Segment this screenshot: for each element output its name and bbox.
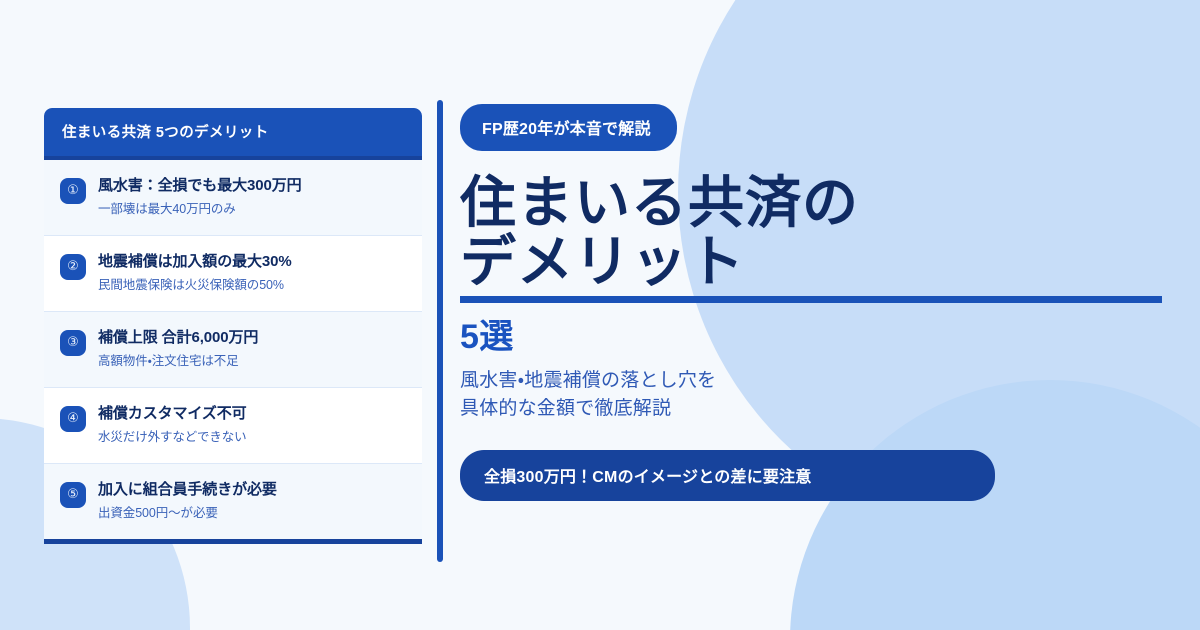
lede-line-2: 具体的な金額で徹底解説: [460, 395, 1180, 424]
list-item: ② 地震補償は加入額の最大30% 民間地震保険は火災保険額の50%: [44, 236, 422, 312]
list-item-texts: 加入に組合員手続きが必要 出資金500円〜が必要: [98, 481, 406, 521]
item-number-badge: ④: [60, 406, 86, 432]
list-item: ④ 補償カスタマイズ不可 水災だけ外すなどできない: [44, 388, 422, 464]
list-item-subtitle: 水災だけ外すなどできない: [98, 429, 406, 445]
list-item-subtitle: 高額物件・注文住宅は不足: [98, 353, 406, 369]
page-title-line-1: 住まいる共済の: [460, 173, 1180, 232]
eyebrow-badge: FP歴20年が本音で解説: [460, 104, 677, 151]
list-item-subtitle: 民間地震保険は火災保険額の50%: [98, 277, 406, 293]
list-item-title: 風水害：全損でも最大300万円: [98, 177, 406, 196]
item-number-badge: ①: [60, 178, 86, 204]
title-panel: FP歴20年が本音で解説 住まいる共済の デメリット 5選 風水害・地震補償の落…: [460, 104, 1180, 501]
lede-line-1: 風水害・地震補償の落とし穴を: [460, 367, 1180, 396]
item-number-badge: ②: [60, 254, 86, 280]
list-item-title: 地震補償は加入額の最大30%: [98, 253, 406, 272]
title-underline-bar: [460, 296, 1162, 303]
list-item: ③ 補償上限 合計6,000万円 高額物件・注文住宅は不足: [44, 312, 422, 388]
list-item-title: 補償上限 合計6,000万円: [98, 329, 406, 348]
list-item-title: 加入に組合員手続きが必要: [98, 481, 406, 500]
list-item: ① 風水害：全損でも最大300万円 一部壊は最大40万円のみ: [44, 160, 422, 236]
lede-description: 風水害・地震補償の落とし穴を 具体的な金額で徹底解説: [460, 367, 1180, 424]
panel-divider: [437, 100, 443, 562]
item-number-badge: ③: [60, 330, 86, 356]
list-item-title: 補償カスタマイズ不可: [98, 405, 406, 424]
cta-banner: 全損300万円！CMのイメージとの差に要注意: [460, 450, 995, 501]
card-header-title: 住まいる共済 5つのデメリット: [44, 108, 422, 156]
list-item-subtitle: 一部壊は最大40万円のみ: [98, 201, 406, 217]
list-item-texts: 補償カスタマイズ不可 水災だけ外すなどできない: [98, 405, 406, 445]
count-heading: 5選: [460, 320, 1180, 354]
list-item-texts: 補償上限 合計6,000万円 高額物件・注文住宅は不足: [98, 329, 406, 369]
list-item-subtitle: 出資金500円〜が必要: [98, 505, 406, 521]
item-number-badge: ⑤: [60, 482, 86, 508]
page-title-line-2: デメリット: [460, 232, 1180, 291]
slide-canvas: 住まいる共済 5つのデメリット ① 風水害：全損でも最大300万円 一部壊は最大…: [0, 0, 1200, 630]
list-item: ⑤ 加入に組合員手続きが必要 出資金500円〜が必要: [44, 464, 422, 539]
page-title: 住まいる共済の デメリット: [460, 173, 1180, 292]
list-item-texts: 風水害：全損でも最大300万円 一部壊は最大40万円のみ: [98, 177, 406, 217]
list-item-texts: 地震補償は加入額の最大30% 民間地震保険は火災保険額の50%: [98, 253, 406, 293]
demerits-summary-card: 住まいる共済 5つのデメリット ① 風水害：全損でも最大300万円 一部壊は最大…: [44, 108, 422, 544]
